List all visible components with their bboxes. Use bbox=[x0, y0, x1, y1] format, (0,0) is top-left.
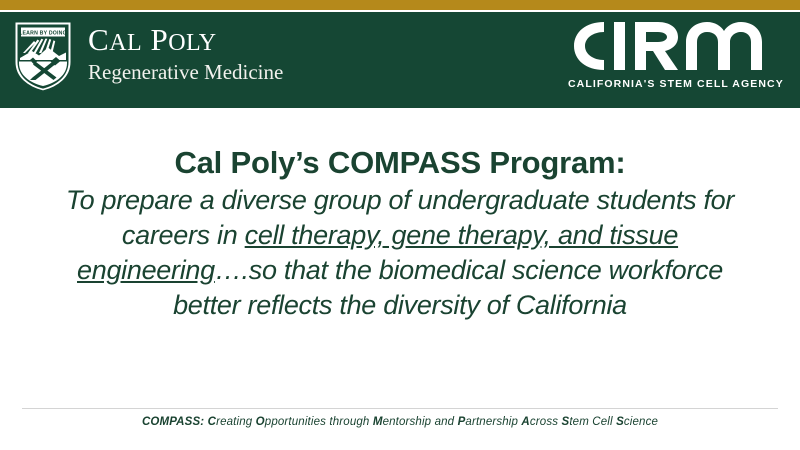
footnote-expansion: Creating Opportunities through Mentorshi… bbox=[208, 416, 658, 428]
acronym-footnote: COMPASS: Creating Opportunities through … bbox=[0, 416, 800, 428]
cal-poly-shield-icon: LEARN BY DOING bbox=[12, 18, 74, 94]
footnote-word: cience bbox=[624, 416, 658, 428]
footnote-word: and bbox=[435, 416, 455, 428]
cal-poly-subtitle: Regenerative Medicine bbox=[88, 61, 283, 84]
cal-poly-name-al: AL bbox=[109, 30, 142, 56]
footnote-word: entorship bbox=[383, 416, 432, 428]
statement-tail: ….so that the biomedical science workfor… bbox=[173, 255, 723, 320]
footer-divider bbox=[22, 408, 778, 409]
footnote-word: tem bbox=[569, 416, 589, 428]
slide-body: Cal Poly’s COMPASS Program: To prepare a… bbox=[0, 108, 800, 398]
cal-poly-name-c: C bbox=[88, 22, 109, 57]
program-statement: To prepare a diverse group of undergradu… bbox=[55, 183, 745, 323]
cal-poly-wordmark: CAL POLY Regenerative Medicine bbox=[88, 24, 283, 84]
footnote-word: reating bbox=[216, 416, 252, 428]
footnote-acronym: COMPASS: bbox=[142, 416, 204, 428]
footnote-word: pportunities bbox=[265, 416, 326, 428]
slide-header: LEARN BY DOING CAL POLY bbox=[0, 0, 800, 108]
cal-poly-lockup: LEARN BY DOING CAL POLY bbox=[12, 18, 283, 94]
shield-banner-text: LEARN BY DOING bbox=[19, 30, 67, 36]
footnote-initial: O bbox=[256, 416, 265, 428]
footnote-initial: S bbox=[616, 416, 624, 428]
page-title: Cal Poly’s COMPASS Program: bbox=[0, 146, 800, 181]
cal-poly-name-oly: OLY bbox=[168, 30, 216, 56]
cirm-lockup: CALIFORNIA'S STEM CELL AGENCY bbox=[568, 18, 776, 90]
footnote-initial: M bbox=[373, 416, 383, 428]
footnote-word: through bbox=[329, 416, 369, 428]
footnote-word: cross bbox=[530, 416, 558, 428]
cal-poly-name-p: P bbox=[150, 22, 168, 57]
footnote-initial: A bbox=[521, 416, 529, 428]
gold-accent-bar bbox=[0, 0, 800, 10]
footnote-initial: C bbox=[208, 416, 216, 428]
cirm-tagline: CALIFORNIA'S STEM CELL AGENCY bbox=[568, 78, 776, 90]
cal-poly-name: CAL POLY bbox=[88, 24, 283, 57]
footnote-word: Cell bbox=[592, 416, 612, 428]
cirm-wordmark-icon bbox=[568, 18, 776, 74]
footnote-word: artnership bbox=[465, 416, 518, 428]
